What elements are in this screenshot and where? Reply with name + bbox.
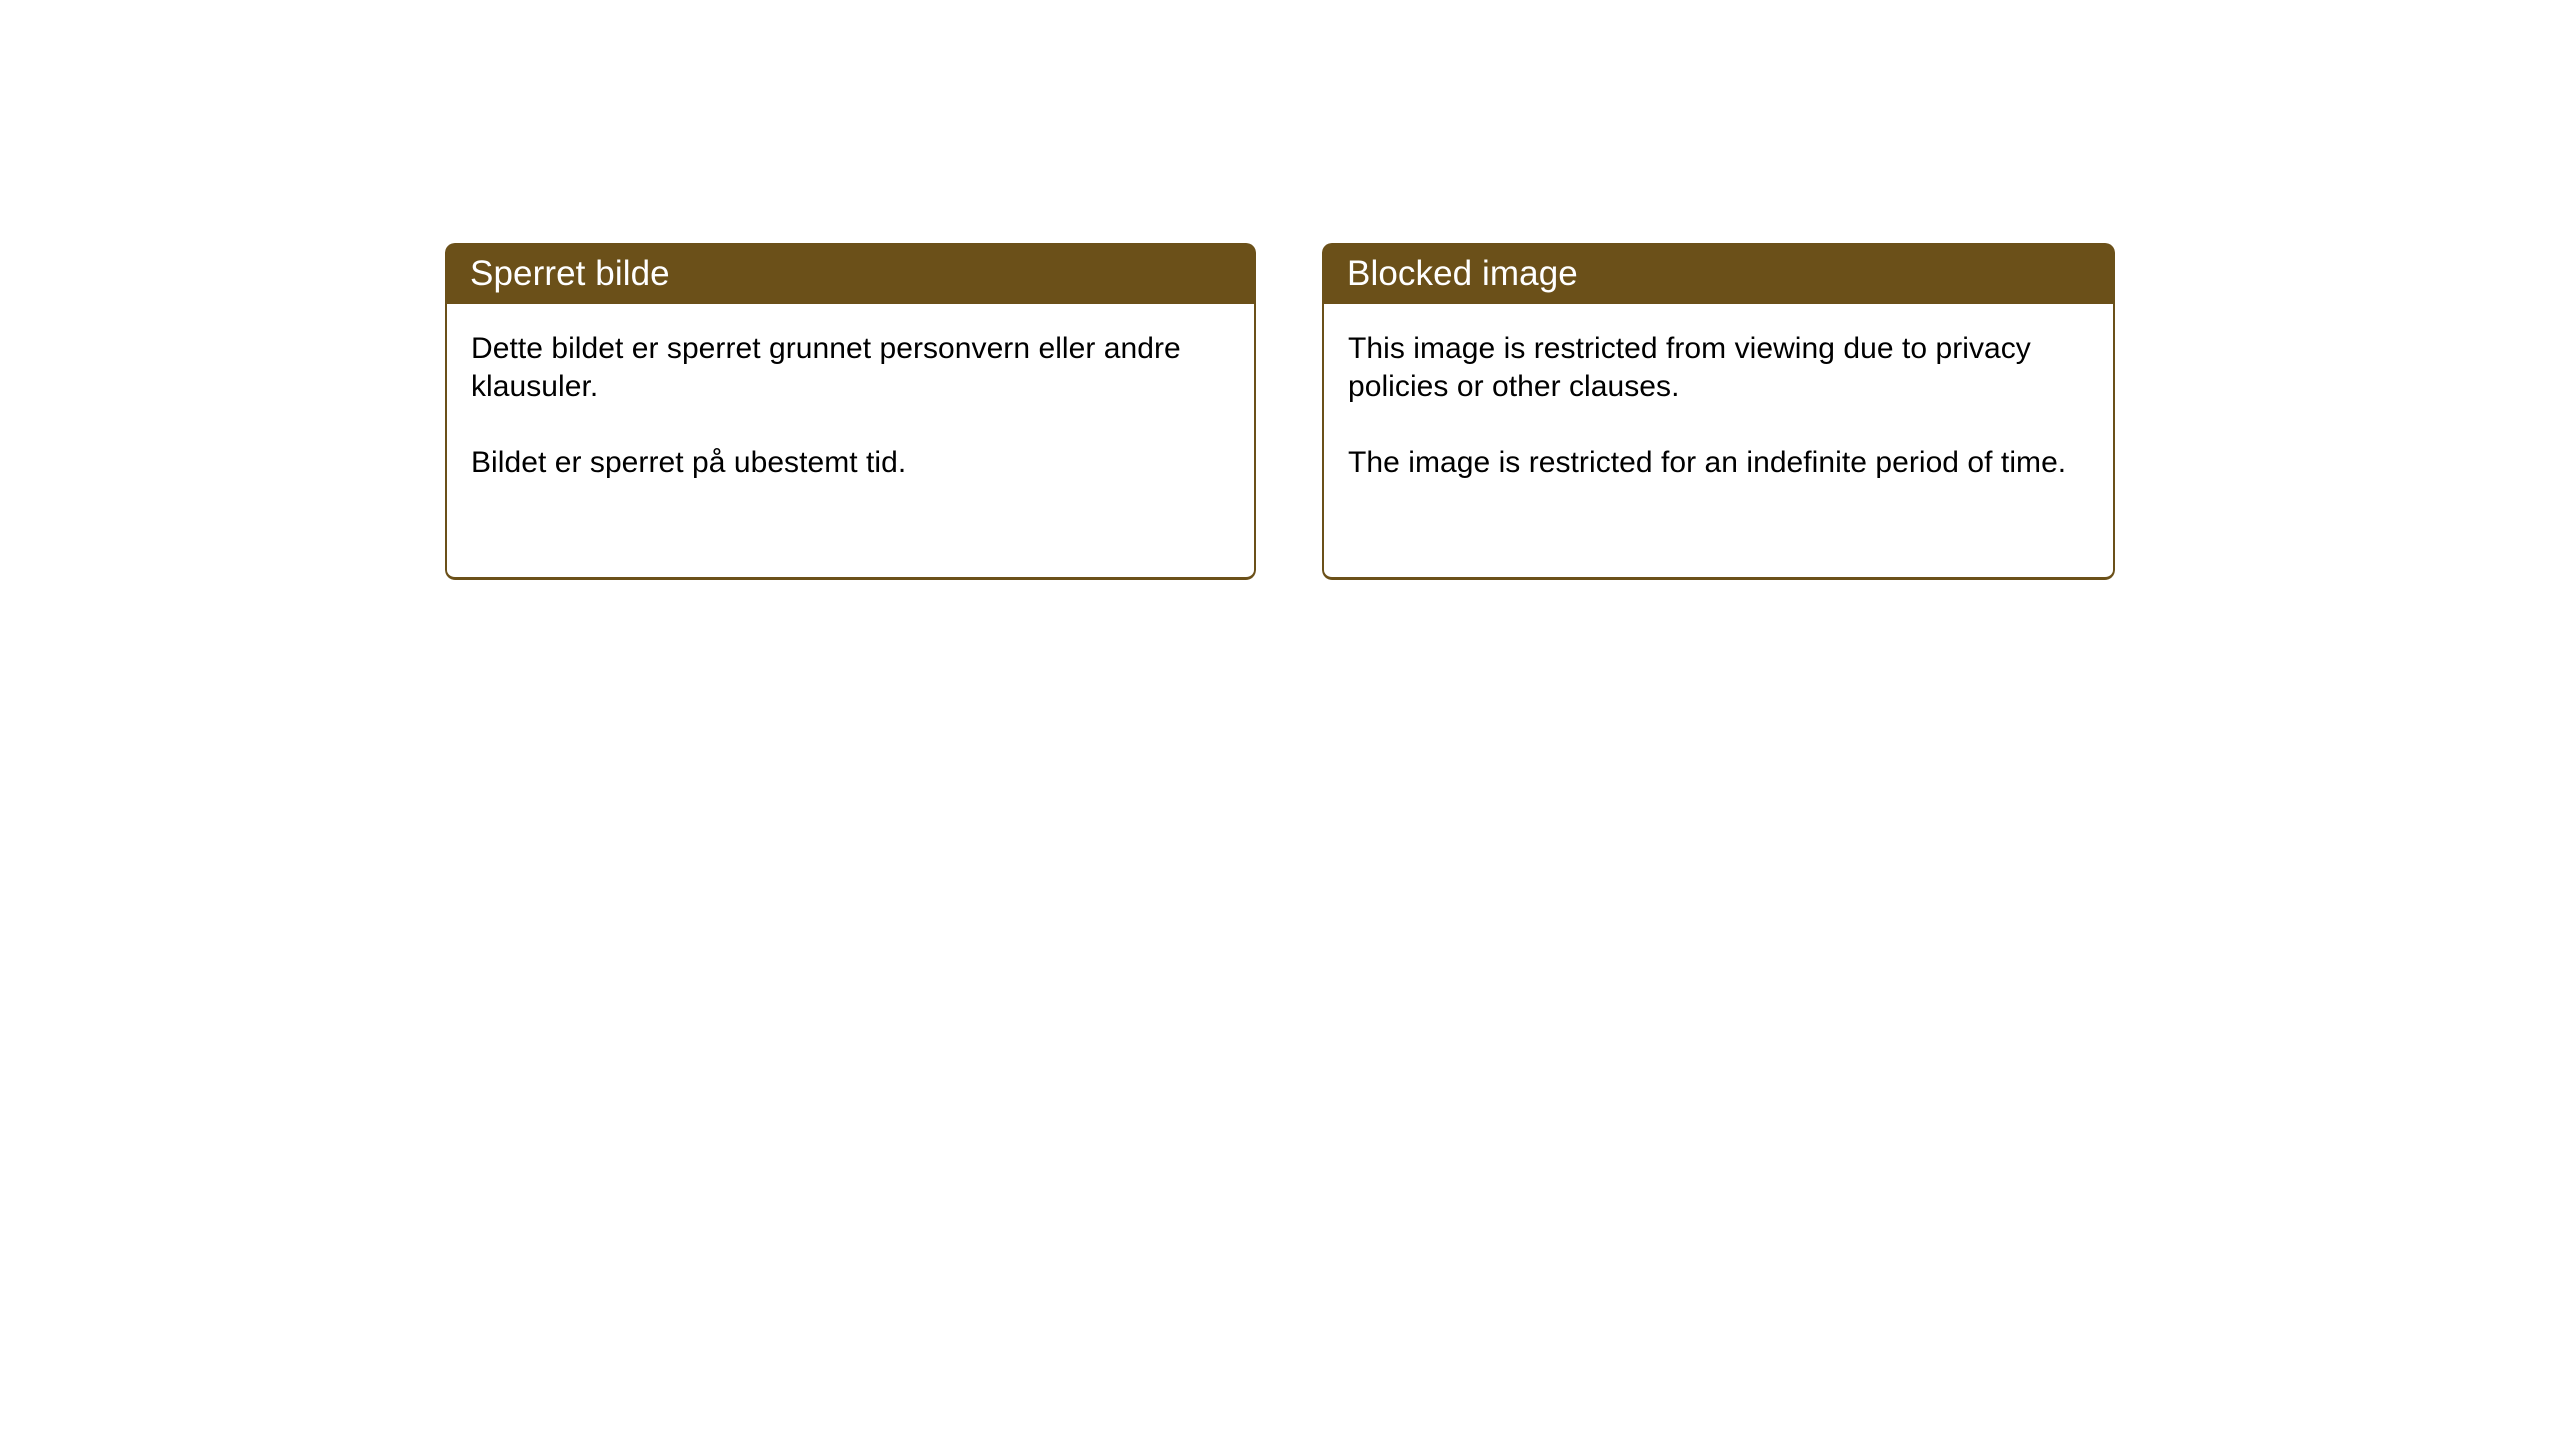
page-root: Sperret bilde Dette bildet er sperret gr… [0,0,2560,1440]
card-body-norwegian: Dette bildet er sperret grunnet personve… [445,304,1256,580]
card-paragraph-english-1: This image is restricted from viewing du… [1348,330,2089,406]
blocked-image-notice-card-english: Blocked image This image is restricted f… [1322,243,2115,580]
card-title-english: Blocked image [1347,256,1578,291]
blocked-image-notice-card-norwegian: Sperret bilde Dette bildet er sperret gr… [445,243,1256,580]
card-paragraph-english-2: The image is restricted for an indefinit… [1348,444,2089,482]
card-header-norwegian: Sperret bilde [445,243,1256,304]
card-title-norwegian: Sperret bilde [470,256,670,291]
card-paragraph-norwegian-1: Dette bildet er sperret grunnet personve… [471,330,1230,406]
card-paragraph-norwegian-2: Bildet er sperret på ubestemt tid. [471,444,1230,482]
card-header-english: Blocked image [1322,243,2115,304]
card-body-english: This image is restricted from viewing du… [1322,304,2115,580]
